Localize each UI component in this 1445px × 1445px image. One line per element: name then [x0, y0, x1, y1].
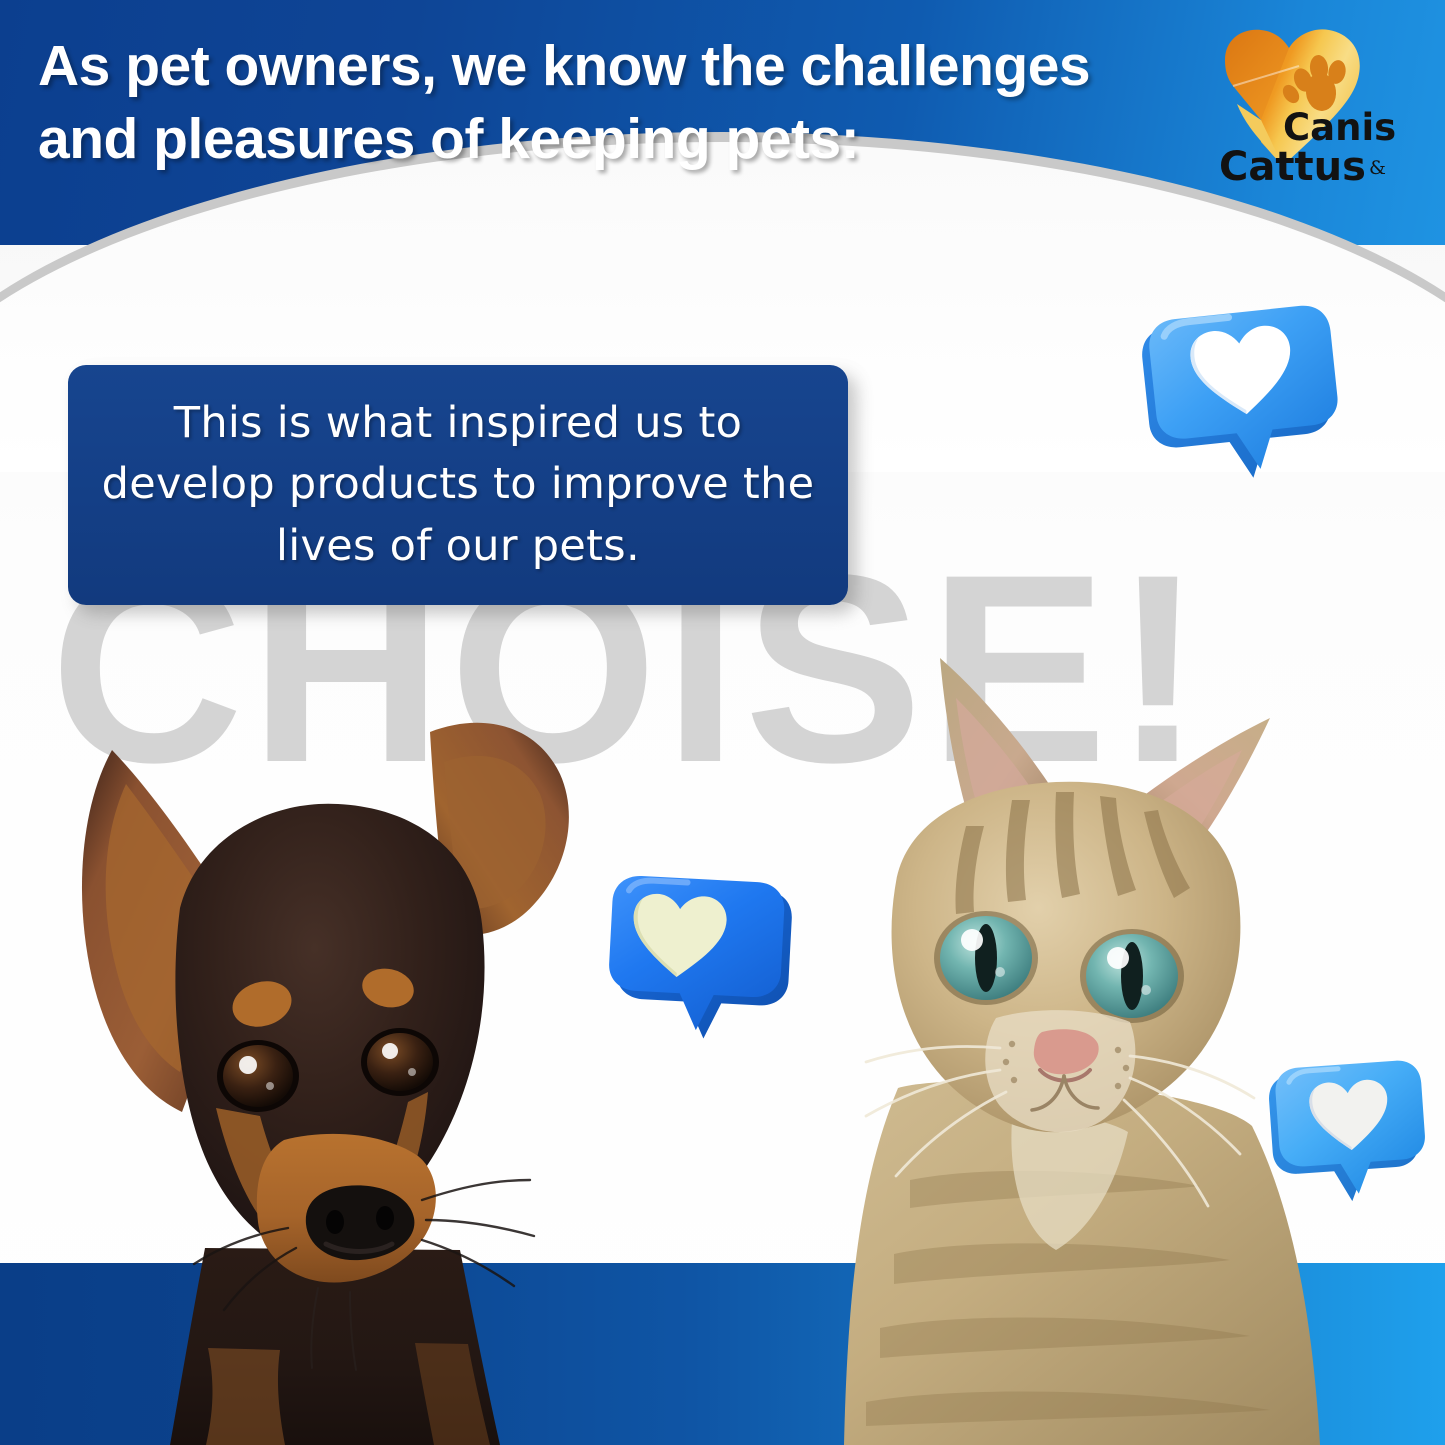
logo-text-canis: Canis [1283, 106, 1396, 149]
canis-cattus-logo: Canis Cattus & [1197, 22, 1417, 194]
poster-root: GOOD CHOISE! [0, 0, 1445, 1445]
heart-bubble-small [1262, 1036, 1439, 1213]
message-box: This is what inspired us to develop prod… [68, 365, 848, 605]
dog-photo [30, 688, 630, 1445]
logo-text-cattus: Cattus [1219, 144, 1366, 190]
page-title: As pet owners, we know the challenges an… [38, 30, 1158, 176]
heart-bubble-large [1130, 272, 1363, 505]
message-box-text: This is what inspired us to develop prod… [68, 393, 848, 576]
heart-bubble-middle [593, 847, 799, 1053]
cat-photo [800, 620, 1360, 1445]
logo-text-ampersand: & [1369, 157, 1386, 179]
